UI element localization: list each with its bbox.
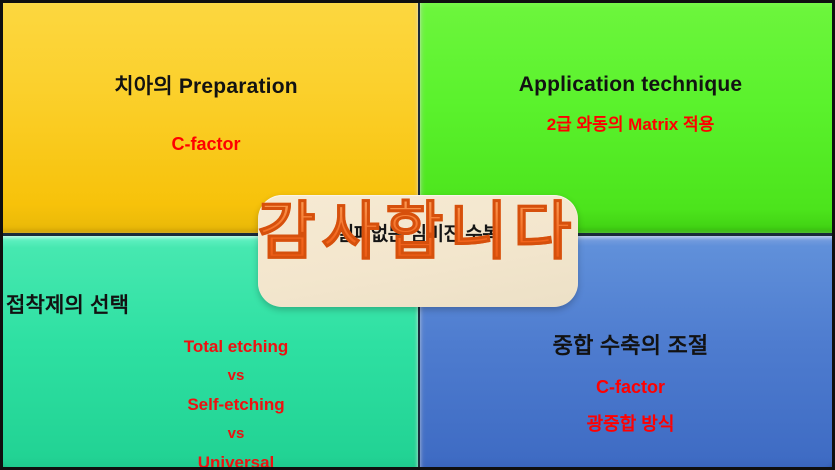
quadrant-top-left-subtitle: C-factor [0, 134, 418, 155]
list-item: Self-etching [54, 390, 418, 419]
list-item: Total etching [54, 332, 418, 361]
list-item: vs [54, 419, 418, 448]
thank-you-text: 감사합니다 [258, 197, 578, 267]
list-item: Universal [54, 448, 418, 470]
quadrant-bottom-left-heading: 접착제의 선택 [6, 289, 129, 319]
quadrant-bottom-right-subtitle-1: C-factor [420, 377, 835, 398]
quadrant-bottom-right-subtitle-2: 광중합 방식 [420, 410, 835, 436]
quadrant-top-right-heading: Application technique [420, 73, 835, 97]
quadrant-bottom-right-heading: 중합 수축의 조절 [420, 328, 835, 360]
quadrant-top-left-heading: 치아의 Preparation [0, 70, 418, 100]
thank-you-wordart: 감사합니다 [0, 196, 835, 268]
list-item: vs [54, 361, 418, 390]
quadrant-top-right-subtitle: 2급 와동의 Matrix 적용 [420, 110, 835, 135]
quadrant-bottom-left-list: Total etching vs Self-etching vs Univers… [54, 332, 418, 470]
presentation-slide: 치아의 Preparation C-factor Application tec… [0, 0, 835, 470]
